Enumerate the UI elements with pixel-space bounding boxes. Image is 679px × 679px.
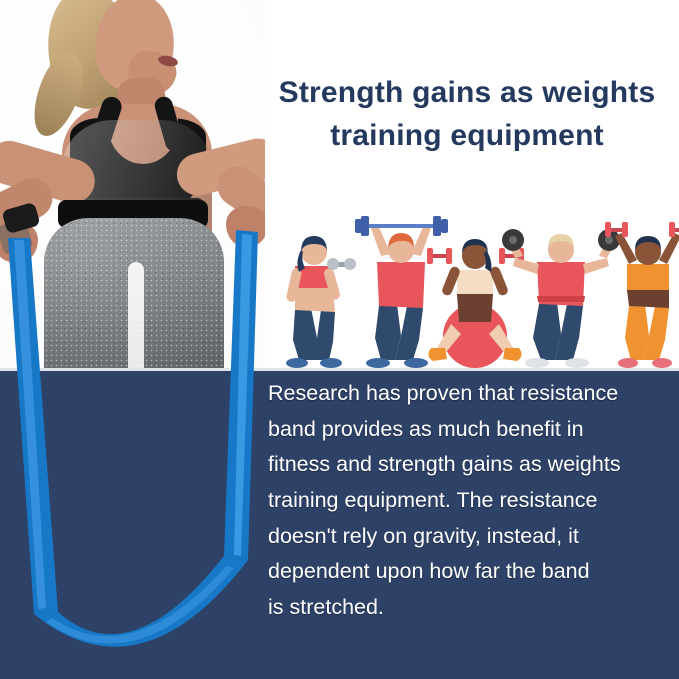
- exercise-illustration-strip: [265, 214, 679, 370]
- headline-line-2: training equipment: [258, 115, 676, 158]
- headline: Strength gains as weights training equip…: [258, 72, 676, 157]
- headline-line-1: Strength gains as weights: [258, 72, 676, 115]
- exercise-figures-svg: [265, 214, 679, 370]
- body-line-1: Research has proven that resistance: [268, 376, 670, 412]
- figure-stability-ball-dumbbells-woman: [427, 239, 524, 368]
- blue-barbell: [355, 216, 448, 236]
- description-text: Research has proven that resistance band…: [268, 376, 670, 626]
- body-line-4: training equipment. The resistance: [268, 483, 670, 519]
- model-hand-right: [226, 206, 265, 246]
- small-dumbbell: [327, 258, 356, 270]
- product-marketing-image: Strength gains as weights training equip…: [0, 0, 679, 679]
- body-line-5: doesn't rely on gravity, instead, it: [268, 519, 670, 555]
- body-line-7: is stretched.: [268, 590, 670, 626]
- body-line-3: fitness and strength gains as weights: [268, 447, 670, 483]
- body-line-2: band provides as much benefit in: [268, 412, 670, 448]
- body-line-6: dependent upon how far the band: [268, 554, 670, 590]
- dumbbell-left: [427, 248, 452, 264]
- figure-shoulder-press-man: [502, 229, 620, 368]
- panel-top-divider: [0, 368, 679, 371]
- figure-barbell-overhead-press-man: [355, 216, 448, 368]
- figure-dumbbell-curl-woman: [286, 236, 356, 368]
- dumbbell-left-plate: [502, 229, 524, 251]
